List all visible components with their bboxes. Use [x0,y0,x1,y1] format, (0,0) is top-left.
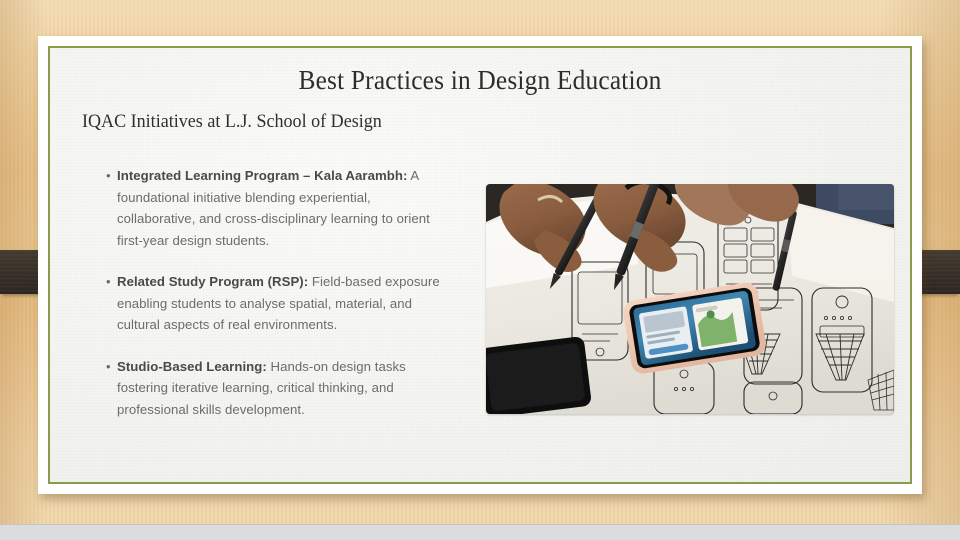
slide-stage: Best Practices in Design Education IQAC … [0,0,960,540]
slide-inner-frame: Best Practices in Design Education IQAC … [48,46,912,484]
bullet-item: • Integrated Learning Program – Kala Aar… [106,165,446,251]
bottom-chrome-strip [0,524,960,540]
bullet-item: • Studio-Based Learning: Hands-on design… [106,356,446,421]
bullet-marker-icon: • [106,271,111,293]
bullet-list: • Integrated Learning Program – Kala Aar… [106,165,446,420]
bullet-lead: Related Study Program (RSP): [117,274,308,289]
slide-title: Best Practices in Design Education [76,64,884,96]
photo-illustration [486,184,894,414]
bullet-marker-icon: • [106,356,111,378]
bullet-item: • Related Study Program (RSP): Field-bas… [106,271,446,336]
slide-card: Best Practices in Design Education IQAC … [38,36,922,494]
bullet-lead: Studio-Based Learning: [117,359,267,374]
slide-photo [486,184,894,414]
bullet-marker-icon: • [106,165,111,187]
bullet-lead: Integrated Learning Program – Kala Aaram… [117,168,407,183]
slide-subtitle: IQAC Initiatives at L.J. School of Desig… [82,110,382,134]
